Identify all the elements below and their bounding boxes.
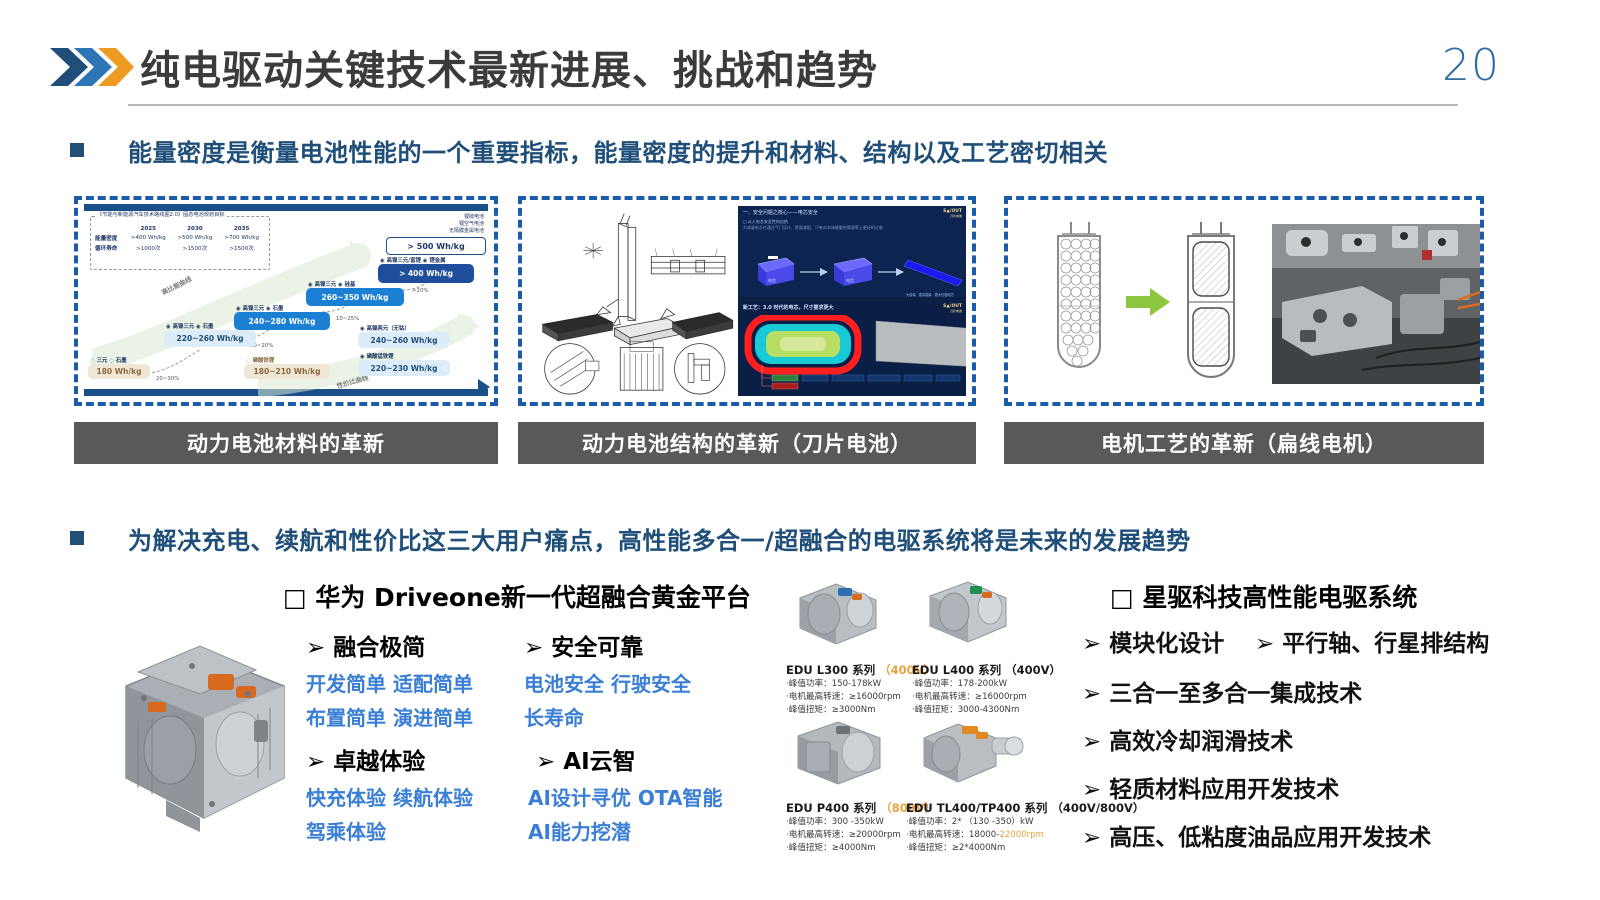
xingqu-item-0: ➢ 模块化设计	[1082, 624, 1224, 658]
node-6-tags: ◉ 高镍两元（无钴）	[360, 324, 410, 332]
node-4: > 400 Wh/kg	[378, 264, 474, 283]
title-divider	[128, 104, 1458, 106]
product-1-image	[918, 572, 1018, 650]
blade-battery-patent-figures	[528, 206, 734, 396]
product-3-specs: ·峰值功率：2* （130 -350）kW ·电机最高转速：18000-2200…	[906, 816, 1044, 855]
caption-panel-3: 电机工艺的革新（扁线电机）	[1004, 422, 1484, 464]
huawei-group-0-title: ➢ 融合极简	[306, 628, 425, 662]
xingqu-item-1: ➢ 平行轴、行星排结构	[1255, 624, 1489, 658]
caption-panel-2: 动力电池结构的革新（刀片电池）	[518, 422, 976, 464]
product-2-specs: ·峰值功率：300 -350kW ·电机最高转速：≥20000rpm ·峰值扭矩…	[786, 816, 901, 855]
node-3: 260~350 Wh/kg	[306, 288, 404, 306]
page-title: 纯电驱动关键技术最新进展、挑战和趋势	[140, 38, 878, 96]
product-0-specs: ·峰值功率：150-178kW ·电机最高转速：≥16000rpm ·峰值扭矩：…	[786, 678, 901, 717]
product-3-image	[918, 708, 1028, 792]
product-0-image	[790, 572, 890, 650]
svg-text:电芯: 电芯	[768, 277, 776, 283]
screenshot-bottom: 新工艺：3.0 时代的电芯，尺寸要求更大 S▲/OUT刀片电池	[738, 301, 966, 396]
node-4-tags: ◉ 高镍三元/富锂 ◉ 锂金属	[380, 256, 446, 264]
node-6: 240~260 Wh/kg	[358, 332, 450, 348]
svg-text:大容量、更高能量、更大长度电芯: 大容量、更高能量、更大长度电芯	[906, 292, 955, 297]
panel-battery-structure: 一、安全问题之核心——电芯安全 □ 从入电芯安全性的自热 大体量电芯在通过气门设…	[518, 196, 976, 406]
huawei-group-2-line-1: 驾乘体验	[306, 816, 386, 845]
panel-battery-material: 高比能曲线 性价比曲线 《节能与新能源汽车技术路线图2.0》固态电池规划目标 2…	[74, 196, 498, 406]
node-2: 240~280 Wh/kg	[234, 312, 330, 330]
node-5-tags: ◌ 磷酸铁锂	[246, 356, 274, 364]
node-0-tags: ◌ 三元 ◌ 石墨	[90, 356, 127, 364]
blade-logo-icon: S▲/OUT刀片电池	[943, 209, 962, 220]
bullet-marker-2	[70, 531, 84, 545]
node-7: 220~230 Wh/kg	[358, 360, 450, 376]
node-1-tags: ◉ 高镍三元 ◉ 石墨	[166, 322, 213, 330]
section-1-bullet: 能量密度是衡量电池性能的一个重要指标，能量密度的提升和材料、结构以及工艺密切相关	[128, 133, 1108, 168]
node-3-tags: ◉ 高镍三元 ◉ 硅基	[308, 280, 355, 288]
huawei-group-1-line-0: 电池安全 行驶安全	[524, 668, 691, 697]
screenshot-top-title: 一、安全问题之核心——电芯安全	[738, 206, 966, 219]
bullet-marker-1	[70, 143, 84, 157]
xingqu-item-2: ➢ 三合一至多合一集成技术	[1082, 674, 1362, 708]
huawei-group-3-line-1: AI能力挖潜	[528, 816, 631, 845]
thermal-map-diagram	[744, 315, 966, 393]
round-wire-slot-diagram	[1048, 220, 1110, 382]
blade-battery-screenshots: 一、安全问题之核心——电芯安全 □ 从入电芯安全性的自热 大体量电芯在通过气门设…	[738, 206, 966, 396]
huawei-group-2-line-0: 快充体验 续航体验	[306, 782, 473, 811]
growth-label-0: 20~30%	[156, 376, 179, 382]
node-2-tags: ◉ 高镍三元 ◉ 石墨	[236, 304, 283, 312]
product-3-spec-1: ·电机最高转速：18000-22000rpm	[906, 829, 1044, 842]
huawei-powertrain-image	[108, 628, 298, 848]
page-number: 20	[1442, 40, 1500, 91]
screenshot-bottom-title: 新工艺：3.0 时代的电芯，尺寸要求更大	[738, 301, 966, 314]
huawei-heading: □ 华为 Driveone新一代超融合黄金平台	[283, 578, 751, 614]
product-1-name: EDU L400 系列 （400V）	[912, 662, 1061, 678]
patent-drawings	[528, 206, 734, 396]
huawei-group-0-line-1: 布置简单 演进简单	[306, 702, 473, 731]
screenshot-top-desc: 大体量电芯在通过气门设计、界面减阻、只有对本体能量的管理等上更好的过制	[738, 225, 966, 231]
screenshot-top: 一、安全问题之核心——电芯安全 □ 从入电芯安全性的自热 大体量电芯在通过气门设…	[738, 206, 966, 297]
section-2-bullet: 为解决充电、续航和性价比这三大用户痛点，高性能多合一/超融合的电驱系统将是未来的…	[128, 521, 1191, 556]
node-7-tags: ◉ 磷酸锰铁锂	[360, 352, 394, 360]
node-0: 180 Wh/kg	[88, 364, 150, 379]
panel-motor-process	[1004, 196, 1484, 406]
cell-evolution-diagram: 电芯 电芯 大容量、更高能量、更大长度电芯	[746, 246, 966, 297]
hairpin-slot-diagram	[1180, 222, 1242, 380]
motor-production-photo	[1272, 224, 1480, 384]
huawei-group-2-title: ➢ 卓越体验	[306, 742, 425, 776]
xingqu-item-5: ➢ 高压、低粘度油品应用开发技术	[1082, 818, 1431, 852]
svg-text:电芯: 电芯	[846, 277, 854, 283]
huawei-group-0-line-0: 开发简单 适配简单	[306, 668, 473, 697]
blade-logo-icon-2: S▲/OUT刀片电池	[943, 304, 962, 315]
node-5: 180~210 Wh/kg	[244, 364, 330, 379]
huawei-group-1-title: ➢ 安全可靠	[524, 628, 643, 662]
caption-panel-1: 动力电池材料的革新	[74, 422, 498, 464]
xingqu-item-4: ➢ 轻质材料应用开发技术	[1082, 770, 1339, 804]
chevron-logo-icon	[48, 46, 134, 88]
huawei-group-3-title: ➢ AI云智	[536, 742, 636, 776]
transform-arrow-icon	[1126, 286, 1170, 318]
growth-label-3: >20%	[412, 288, 429, 294]
huawei-group-3-line-0: AI设计寻优 OTA智能	[528, 782, 722, 811]
slide-root: 纯电驱动关键技术最新进展、挑战和趋势 20 能量密度是衡量电池性能的一个重要指标…	[0, 0, 1600, 900]
node-1: 220~260 Wh/kg	[164, 330, 256, 347]
product-2-image	[790, 712, 890, 790]
growth-label-2: 10~25%	[336, 316, 359, 322]
xingqu-heading: □ 星驱科技高性能电驱系统	[1110, 578, 1417, 614]
battery-roadmap-chart: 高比能曲线 性价比曲线 《节能与新能源汽车技术路线图2.0》固态电池规划目标 2…	[78, 200, 494, 402]
xingqu-item-3: ➢ 高效冷却润滑技术	[1082, 722, 1293, 756]
huawei-group-1-line-1: 长寿命	[524, 702, 584, 731]
